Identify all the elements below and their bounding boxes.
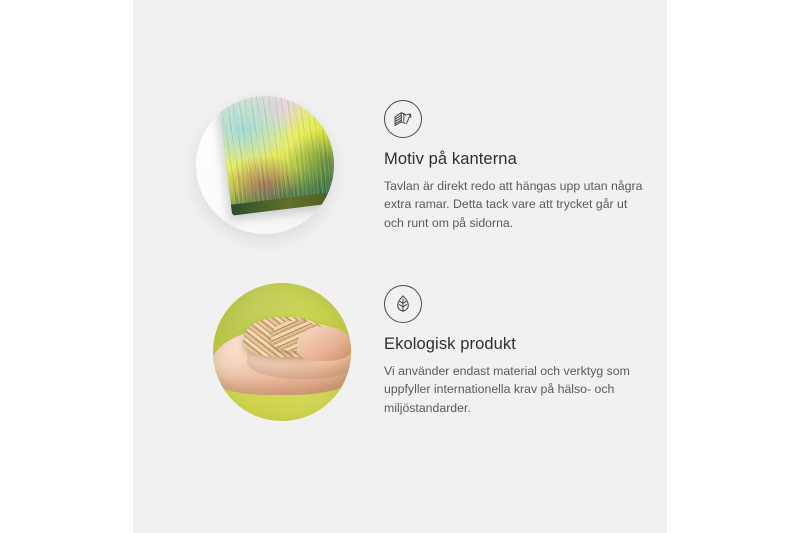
feature-block-eco: Ekologisk produkt Vi använder endast mat…	[133, 272, 667, 437]
feature-block-edges: Motiv på kanterna Tavlan är direkt redo …	[133, 78, 667, 263]
leaf-icon	[384, 285, 422, 323]
canvas-wrapped-edge-icon	[384, 100, 422, 138]
canvas-print-block	[217, 96, 334, 216]
canvas-print-photo	[196, 96, 334, 234]
wood-chips-in-hands-photo	[213, 283, 351, 421]
feature-text-eco: Ekologisk produkt Vi använder endast mat…	[384, 285, 654, 418]
feature-body: Vi använder endast material och verktyg …	[384, 362, 646, 418]
feature-text-edges: Motiv på kanterna Tavlan är direkt redo …	[384, 100, 654, 233]
page-root: Motiv på kanterna Tavlan är direkt redo …	[0, 0, 800, 533]
feature-title: Motiv på kanterna	[384, 150, 654, 170]
content-panel: Motiv på kanterna Tavlan är direkt redo …	[133, 0, 667, 533]
feature-title: Ekologisk produkt	[384, 335, 654, 355]
feature-body: Tavlan är direkt redo att hängas upp uta…	[384, 177, 646, 233]
photo-vignette	[213, 283, 351, 421]
